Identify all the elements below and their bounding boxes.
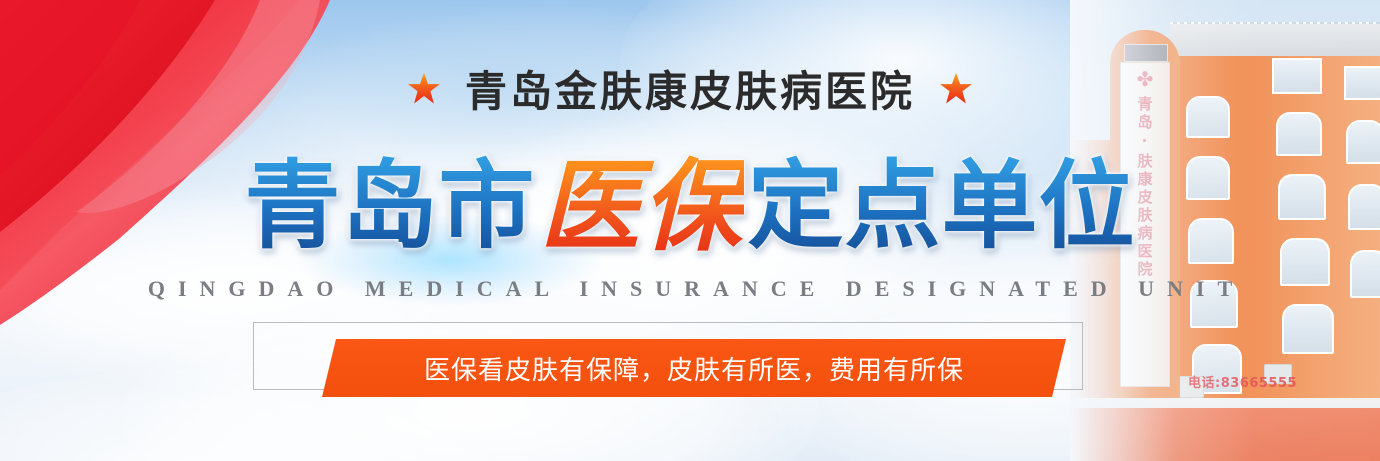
building-window bbox=[1348, 184, 1380, 230]
headline-glow-blue bbox=[300, 215, 600, 305]
red-ribbon-decoration bbox=[0, 0, 420, 330]
air-conditioner-unit bbox=[1174, 376, 1204, 398]
hospital-name: 青岛金肤康皮肤病医院 bbox=[465, 58, 915, 119]
building-window bbox=[1188, 218, 1234, 264]
headline-glow bbox=[560, 150, 880, 310]
building-window bbox=[1346, 120, 1380, 164]
building-window bbox=[1280, 238, 1330, 286]
star-icon bbox=[939, 72, 973, 105]
slogan-bar: 医保看皮肤有保障，皮肤有所医，费用有所保 bbox=[322, 339, 1066, 397]
building-window bbox=[1350, 250, 1380, 298]
building-window bbox=[1186, 96, 1230, 138]
building-phone-text: 电话:83665555 bbox=[1188, 372, 1297, 391]
building-window bbox=[1276, 112, 1322, 156]
hospital-promo-banner: ✤ 青岛·肤康皮肤病医院 电话:83665555 bbox=[0, 0, 1380, 461]
building-window bbox=[1278, 174, 1326, 220]
sky-cloud bbox=[300, 0, 720, 170]
hospital-vertical-sign-text: 青岛·肤康皮肤病医院 bbox=[1135, 96, 1156, 279]
building-window bbox=[1272, 58, 1322, 94]
star-icon bbox=[407, 72, 441, 105]
sky-cloud bbox=[440, 110, 960, 350]
vertical-sign-column bbox=[1110, 30, 1180, 398]
building-facade bbox=[1172, 56, 1380, 401]
headline-part-1: 青岛市 bbox=[245, 128, 536, 267]
roof-railing bbox=[1170, 22, 1380, 58]
photo-sky bbox=[1070, 0, 1380, 461]
hospital-building-photo: ✤ 青岛·肤康皮肤病医院 电话:83665555 bbox=[1070, 0, 1380, 461]
sign-top-window bbox=[1124, 44, 1168, 62]
air-conditioner-unit bbox=[1264, 364, 1292, 384]
building-window bbox=[1282, 304, 1334, 354]
slogan-text: 医保看皮肤有保障，皮肤有所医，费用有所保 bbox=[424, 350, 964, 387]
building-window bbox=[1186, 156, 1230, 200]
medical-cross-flower-icon: ✤ bbox=[1134, 69, 1156, 91]
building-window bbox=[1190, 280, 1238, 328]
building-ground-floor bbox=[1070, 398, 1380, 461]
hospital-vertical-sign: ✤ 青岛·肤康皮肤病医院 bbox=[1120, 62, 1170, 387]
building-roof bbox=[1170, 24, 1380, 66]
building-window bbox=[1192, 344, 1242, 394]
building-window bbox=[1344, 66, 1380, 100]
headline-part-2: 医保 bbox=[540, 125, 744, 270]
